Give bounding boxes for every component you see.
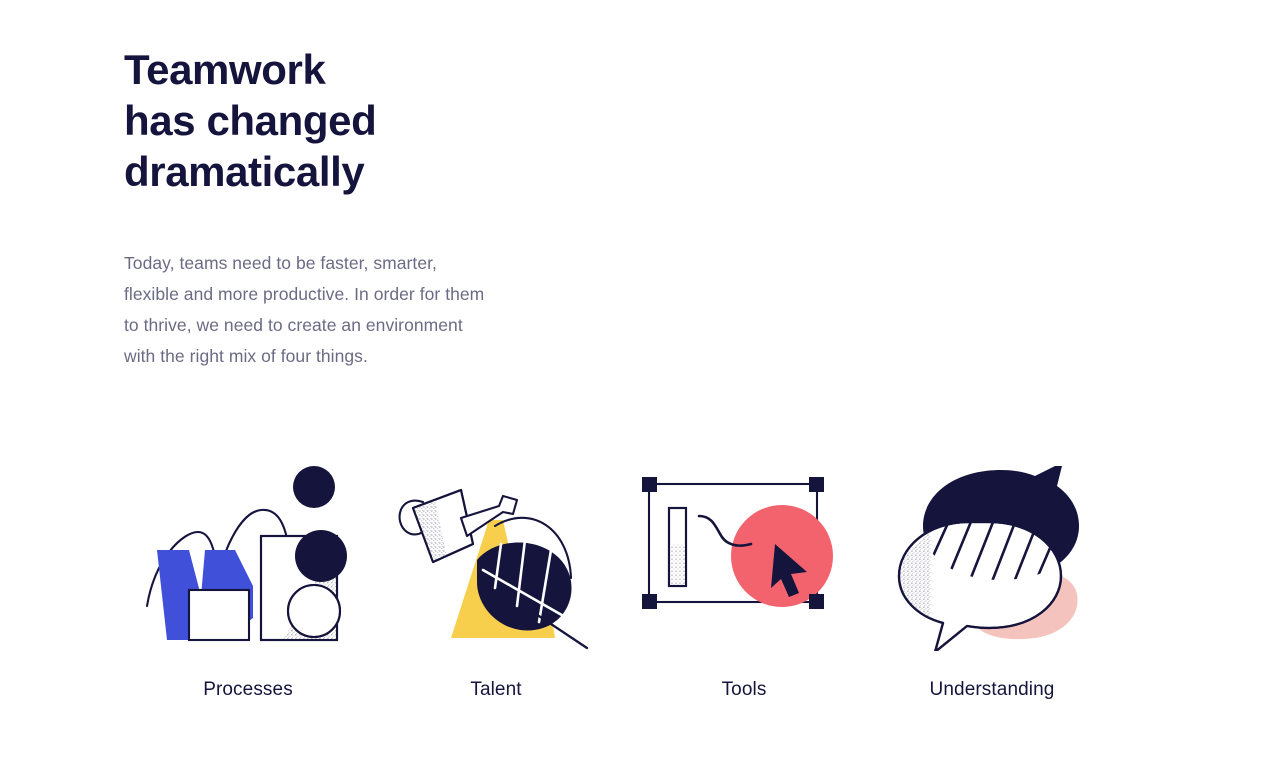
vertical-bar-shape xyxy=(669,508,686,586)
tools-illustration xyxy=(639,466,849,651)
understanding-illustration xyxy=(887,466,1097,651)
handle-top-right xyxy=(809,477,824,492)
landing-section: Teamwork has changed dramatically Today,… xyxy=(0,0,1280,778)
handle-top-left xyxy=(642,477,657,492)
pillar-understanding[interactable]: Understanding xyxy=(868,466,1116,702)
pillar-label-tools: Tools xyxy=(722,678,767,702)
processes-illustration xyxy=(143,466,353,651)
pillar-tools[interactable]: Tools xyxy=(620,466,868,702)
handle-bottom-right xyxy=(809,594,824,609)
intro-block: Teamwork has changed dramatically Today,… xyxy=(124,44,644,372)
pillars-row: Processes xyxy=(124,466,1156,702)
white-square-shape xyxy=(189,590,249,640)
handle-bottom-left xyxy=(642,594,657,609)
intro-paragraph: Today, teams need to be faster, smarter,… xyxy=(124,197,644,372)
navy-circle-top xyxy=(293,466,335,508)
pillar-processes[interactable]: Processes xyxy=(124,466,372,702)
pillar-label-talent: Talent xyxy=(470,678,521,702)
pillar-label-understanding: Understanding xyxy=(930,678,1055,702)
pillar-label-processes: Processes xyxy=(203,678,293,702)
page-title: Teamwork has changed dramatically xyxy=(124,44,644,197)
talent-illustration xyxy=(391,466,601,651)
pillar-talent[interactable]: Talent xyxy=(372,466,620,702)
navy-circle-middle xyxy=(295,530,347,582)
